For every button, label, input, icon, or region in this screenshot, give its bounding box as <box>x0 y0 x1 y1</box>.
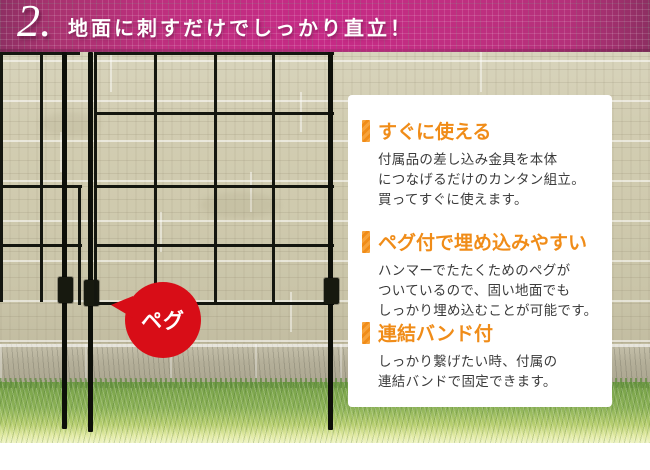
header-title: 地面に刺すだけでしっかり直立！ <box>68 12 413 41</box>
peg-bracket-left <box>58 277 73 303</box>
feature-body: ハンマーでたたくためのペグが ついているので、固い地面でも しっかり埋め込むこと… <box>378 261 597 321</box>
callout-label: ペグ <box>125 282 201 358</box>
feature-body: しっかり繋げたい時、付属の 連結バンドで固定できます。 <box>378 352 557 392</box>
step-number: 2. <box>17 0 52 44</box>
feature-heading: すぐに使える <box>378 117 491 144</box>
trellis-post-right <box>328 52 333 430</box>
header-bar: 2. 地面に刺すだけでしっかり直立！ <box>0 0 650 52</box>
accent-bar-icon <box>362 322 370 344</box>
peg-callout-bubble: ペグ <box>125 282 201 358</box>
trellis-post-left <box>62 52 67 429</box>
feature-panel: すぐに使える 付属品の差し込み金具を本体 につなげるだけのカンタン組立。 買って… <box>348 95 612 407</box>
product-feature-banner: 2. 地面に刺すだけでしっかり直立！ <box>0 0 650 470</box>
peg-bracket-right <box>324 278 339 304</box>
trellis-post-mid <box>88 52 93 432</box>
feature-body: 付属品の差し込み金具を本体 につなげるだけのカンタン組立。 買ってすぐに使えます… <box>378 150 585 210</box>
accent-bar-icon <box>362 120 370 142</box>
feature-heading: 連結バンド付 <box>378 319 493 346</box>
feature-heading: ペグ付で埋め込みやすい <box>378 228 587 255</box>
accent-bar-icon <box>362 231 370 253</box>
